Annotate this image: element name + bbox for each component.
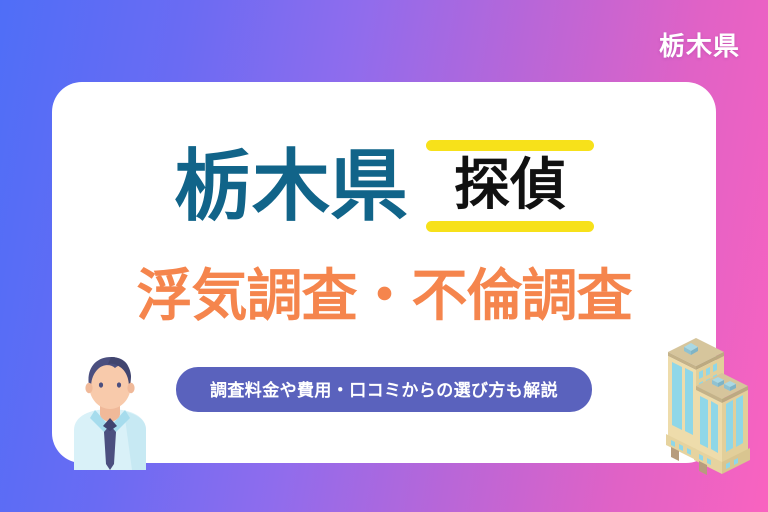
- isometric-office-buildings-illustration: [638, 334, 754, 480]
- title-row: 栃木県 探偵: [0, 140, 768, 232]
- headline-text: 浮気調査・不倫調査: [0, 268, 768, 324]
- region-tag: 栃木県: [659, 26, 740, 63]
- subtitle-pill: 調査料金や費用・口コミからの選び方も解説: [176, 367, 592, 412]
- badge-bar-top-decoration: [426, 140, 594, 151]
- badge-label: 探偵: [454, 154, 566, 216]
- badge-bar-bottom-decoration: [426, 221, 594, 232]
- keyword-badge: 探偵: [426, 140, 594, 232]
- businessman-illustration: [62, 352, 158, 470]
- prefecture-title: 栃木県: [174, 147, 408, 225]
